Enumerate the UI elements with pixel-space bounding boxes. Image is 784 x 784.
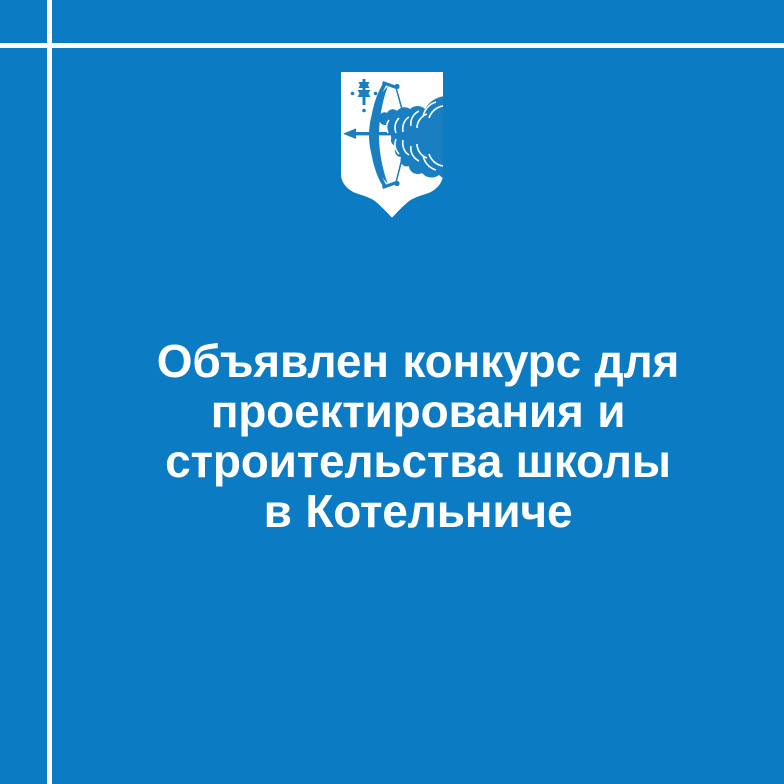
horizontal-white-rule <box>0 43 784 48</box>
page-title: Объявлен конкурс для проектирования и ст… <box>148 336 688 536</box>
emblem-container <box>0 70 784 220</box>
kirov-oblast-coat-of-arms-icon <box>339 70 445 220</box>
headline-container: Объявлен конкурс для проектирования и ст… <box>52 336 784 536</box>
announcement-card: Объявлен конкурс для проектирования и ст… <box>0 0 784 784</box>
